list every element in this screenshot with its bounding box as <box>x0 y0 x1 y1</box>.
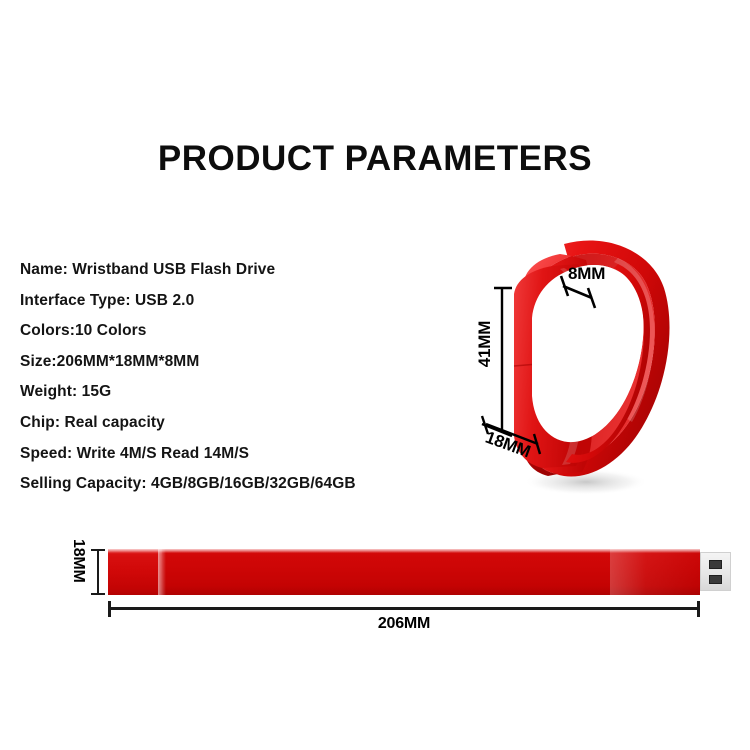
spec-row-selling-capacity: Selling Capacity: 4GB/8GB/16GB/32GB/64GB <box>20 469 450 500</box>
spec-row-speed: Speed: Write 4M/S Read 14M/S <box>20 439 450 470</box>
wristband-illustration <box>468 214 684 506</box>
spec-row-weight: Weight: 15G <box>20 377 450 408</box>
dimension-line-206mm <box>108 607 700 610</box>
wristband-product-photo: 41MM 8MM 18MM <box>468 214 684 506</box>
spec-row-name: Name: Wristband USB Flash Drive <box>20 255 450 286</box>
dimension-line-18mm <box>97 549 99 595</box>
product-parameters-page: PRODUCT PARAMETERS Name: Wristband USB F… <box>0 0 750 750</box>
dimension-cap-18mm-top <box>91 549 105 551</box>
strap-clasp-seam <box>158 549 166 595</box>
dimension-label-41mm: 41MM <box>475 321 495 367</box>
usb-contact-pad-1 <box>709 560 722 569</box>
spec-row-size: Size:206MM*18MM*8MM <box>20 347 450 378</box>
strap-tip-shading <box>610 549 700 595</box>
spec-row-colors: Colors:10 Colors <box>20 316 450 347</box>
dimension-cap-18mm-bottom <box>91 593 105 595</box>
dimension-label-206mm: 206MM <box>0 615 750 633</box>
spec-row-chip: Chip: Real capacity <box>20 408 450 439</box>
flat-strap-diagram: 18MM 206MM <box>0 520 750 650</box>
specification-list: Name: Wristband USB Flash Drive Interfac… <box>20 255 450 500</box>
dimension-label-18mm-flat: 18MM <box>69 539 87 581</box>
strap-top-highlight <box>108 549 700 553</box>
strap-clasp-segment <box>108 549 162 595</box>
usb-contact-pad-2 <box>709 575 722 584</box>
spec-row-interface-type: Interface Type: USB 2.0 <box>20 286 450 317</box>
page-title: PRODUCT PARAMETERS <box>0 138 750 180</box>
usb-connector <box>700 552 731 591</box>
dimension-label-8mm: 8MM <box>568 264 605 284</box>
